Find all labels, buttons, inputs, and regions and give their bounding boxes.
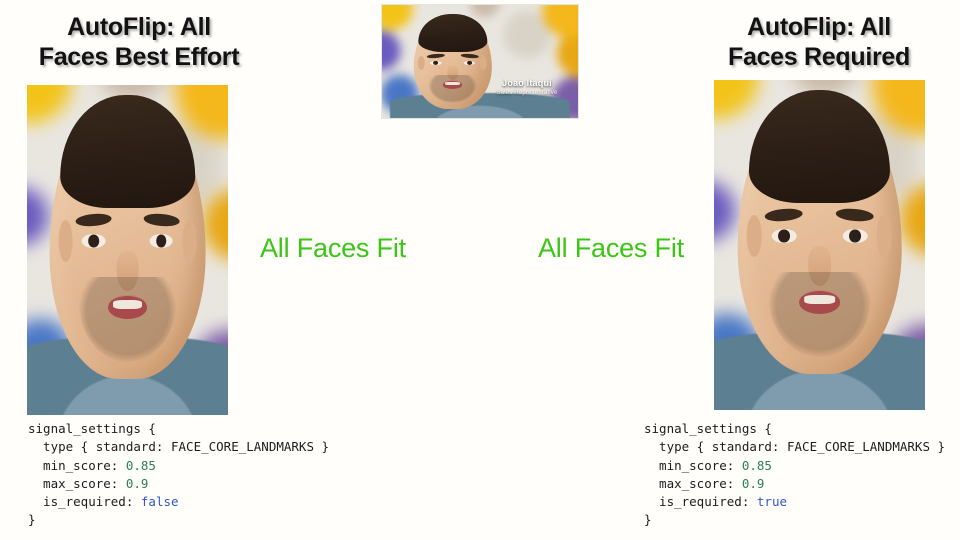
left-face <box>49 95 206 379</box>
right-code-line-open: signal_settings { <box>644 421 772 436</box>
left-code-line-type: type { standard: FACE_CORE_LANDMARKS } <box>28 439 329 454</box>
right-code-value-is-required: true <box>757 494 787 509</box>
left-eyebrow-left <box>75 213 112 229</box>
left-code-line-close: } <box>28 512 36 527</box>
thumbnail-eyebrow-left <box>427 53 445 59</box>
right-eyebrow-left <box>765 207 804 223</box>
left-cropped-result-image <box>27 85 228 415</box>
thumbnail-stubble <box>428 75 477 103</box>
right-code-line-close: } <box>644 512 652 527</box>
thumbnail-pupil-right <box>467 61 472 65</box>
right-verdict-label: All Faces Fit <box>538 233 684 264</box>
thumbnail-face <box>413 14 491 109</box>
right-code-value-min-score: 0.85 <box>742 458 772 473</box>
left-code-value-max-score: 0.9 <box>126 476 149 491</box>
left-eyebrow-right <box>143 213 180 229</box>
left-verdict-label: All Faces Fit <box>260 233 406 264</box>
right-eyebrow-right <box>836 207 875 223</box>
right-panel-title: AutoFlip: All Faces Required <box>688 12 950 72</box>
right-stubble <box>768 272 870 357</box>
source-video-thumbnail: Joao Itaqui Sales Representative <box>382 5 578 118</box>
left-panel-title: AutoFlip: All Faces Best Effort <box>8 12 270 72</box>
right-code-value-max-score: 0.9 <box>742 476 765 491</box>
left-signal-settings-config: signal_settings { type { standard: FACE_… <box>28 420 329 530</box>
left-eye-left <box>82 234 106 248</box>
left-code-value-min-score: 0.85 <box>126 458 156 473</box>
comparison-stage: AutoFlip: All Faces Best Effort AutoFlip… <box>0 0 960 540</box>
left-code-key-max-score: max_score: <box>28 476 126 491</box>
left-code-value-is-required: false <box>141 494 179 509</box>
right-eye-right <box>843 229 868 243</box>
right-pupil-left <box>778 230 789 243</box>
thumbnail-pupil-left <box>433 61 438 65</box>
right-cropped-result-image <box>714 80 925 410</box>
left-mouth <box>108 296 147 319</box>
left-pupil-left <box>88 235 99 248</box>
left-stubble <box>79 277 176 362</box>
left-code-line-open: signal_settings { <box>28 421 156 436</box>
thumbnail-ear-right <box>480 56 487 70</box>
right-pupil-right <box>849 230 860 243</box>
left-pupil-right <box>156 235 167 248</box>
right-face <box>737 90 902 374</box>
thumbnail-mouth <box>443 81 463 89</box>
thumbnail-eye-right <box>464 61 476 66</box>
right-code-line-type: type { standard: FACE_CORE_LANDMARKS } <box>644 439 945 454</box>
right-ear-right <box>877 215 892 258</box>
right-code-key-max-score: max_score: <box>644 476 742 491</box>
right-code-key-is-required: is_required: <box>644 494 757 509</box>
left-eye-right <box>149 234 173 248</box>
left-ear-left <box>59 220 73 263</box>
right-teeth <box>804 295 835 304</box>
thumbnail-eyebrow-right <box>460 53 478 59</box>
thumbnail-eye-left <box>430 61 442 66</box>
left-code-key-is-required: is_required: <box>28 494 141 509</box>
left-ear-right <box>182 220 196 263</box>
right-ear-left <box>747 215 762 258</box>
right-mouth <box>799 291 840 314</box>
left-teeth <box>113 300 143 309</box>
thumbnail-teeth <box>445 82 460 85</box>
right-eye-left <box>772 229 797 243</box>
right-signal-settings-config: signal_settings { type { standard: FACE_… <box>644 420 945 530</box>
left-code-key-min-score: min_score: <box>28 458 126 473</box>
right-code-key-min-score: min_score: <box>644 458 742 473</box>
thumbnail-ear-left <box>418 56 425 70</box>
